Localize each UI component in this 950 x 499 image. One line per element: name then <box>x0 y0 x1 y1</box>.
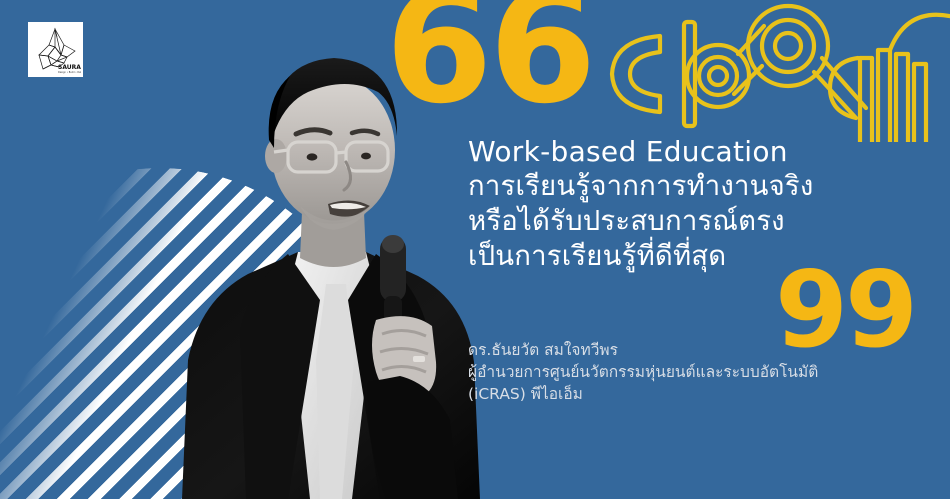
headline-line-2: การเรียนรู้จากการทำงานจริง <box>468 169 898 204</box>
robot-arm-icon <box>592 0 950 142</box>
headline-line-3: หรือได้รับประสบการณ์ตรง <box>468 204 898 239</box>
logo-wordmark: SAURA <box>58 64 81 71</box>
attribution-org: (iCRAS) พีไอเอ็ม <box>468 383 898 405</box>
logo-tagline: Design • Build • Deliver <box>58 71 81 74</box>
quote-open-mark: 66 <box>385 0 593 125</box>
headline-line-1: Work-based Education <box>468 134 898 169</box>
quote-poster: 66 <box>0 0 950 499</box>
attribution: ดร.ธันยวัต สมใจทวีพร ผู้อำนวยการศูนย์นวั… <box>468 339 898 405</box>
attribution-title: ผู้อำนวยการศูนย์นวัตกรรมหุ่นยนต์และระบบอ… <box>468 361 898 383</box>
attribution-name: ดร.ธันยวัต สมใจทวีพร <box>468 339 898 361</box>
origami-bird-logo-icon: SAURA Design • Build • Deliver <box>31 25 81 75</box>
saura-logo: SAURA Design • Build • Deliver <box>28 22 83 77</box>
